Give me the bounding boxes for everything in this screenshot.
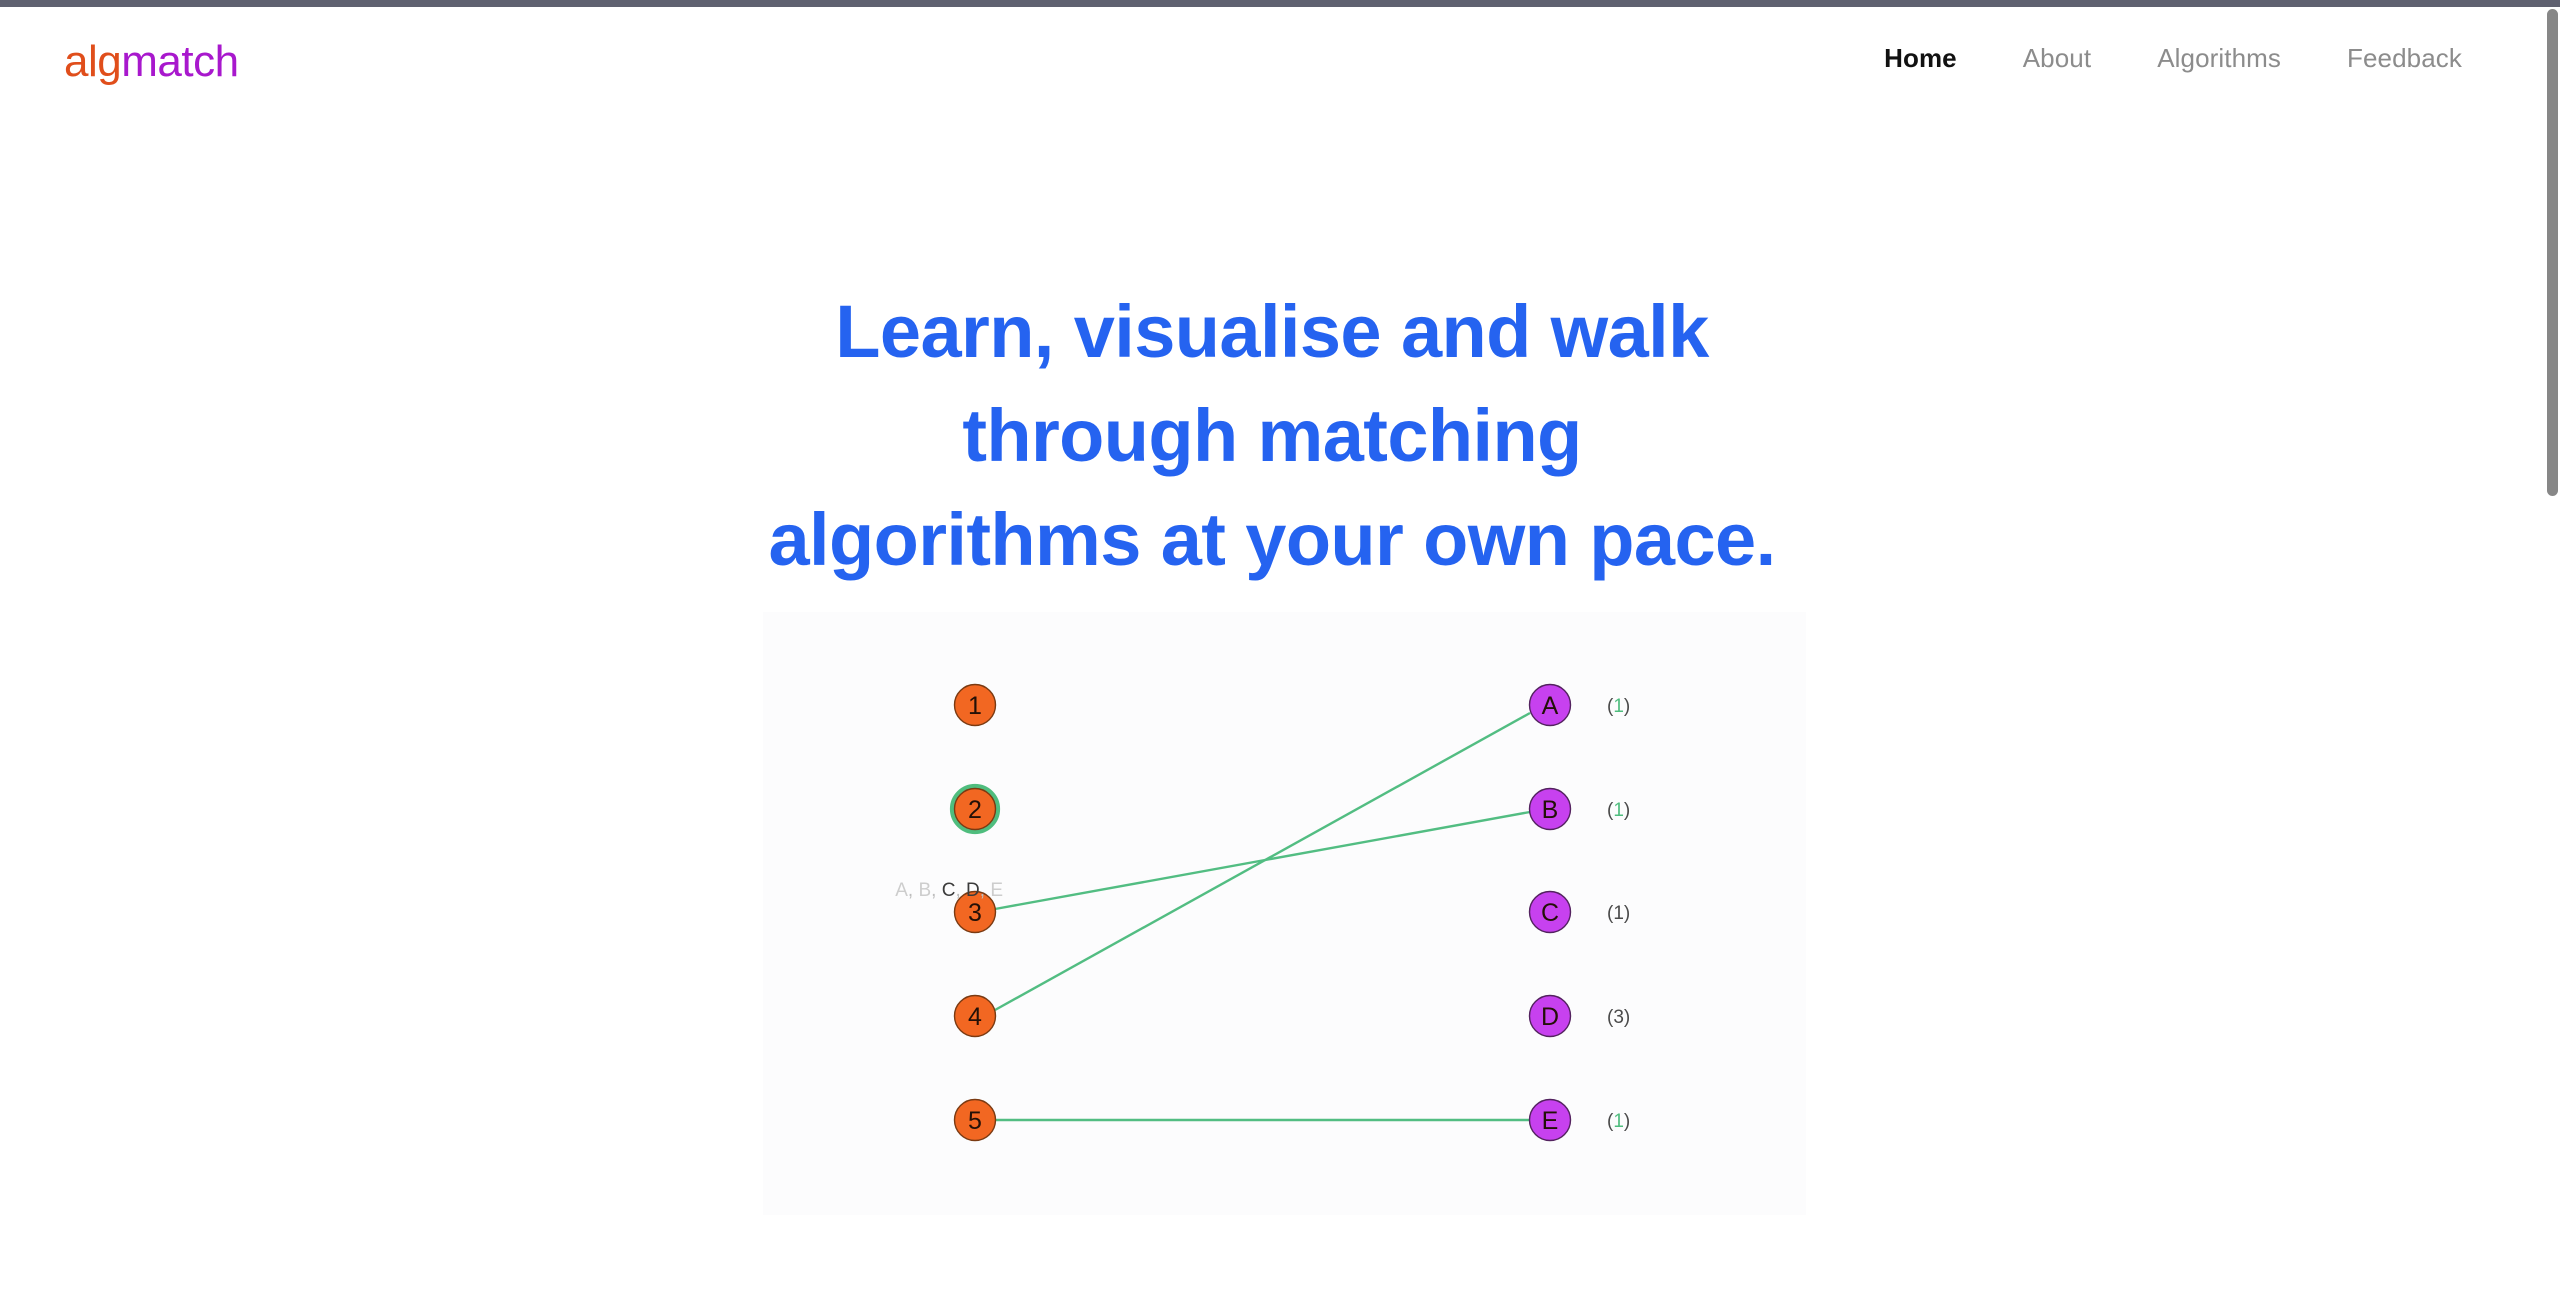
preference-item-C: C — [942, 880, 956, 901]
capacity-label-D: (3) — [1607, 1007, 1630, 1028]
node-circle[interactable] — [1530, 685, 1571, 726]
graph-node-2[interactable]: 2 — [952, 786, 998, 832]
capacity-label-B: (1) — [1607, 800, 1630, 821]
capacity-label-C: (1) — [1607, 903, 1630, 924]
graph-node-E[interactable]: E — [1530, 1100, 1571, 1141]
page-scrollbar-thumb[interactable] — [2547, 9, 2558, 496]
nav-link-home[interactable]: Home — [1884, 33, 1957, 84]
site-header: algmatch Home About Algorithms Feedback — [0, 7, 2544, 110]
brand-logo[interactable]: algmatch — [64, 34, 239, 84]
capacity-label-A: (1) — [1607, 696, 1630, 717]
preference-separator: , — [908, 880, 919, 901]
node-circle[interactable] — [1530, 789, 1571, 830]
page-title: Learn, visualise and walk through matchi… — [767, 280, 1777, 592]
graph-edges-layer — [995, 713, 1530, 1120]
node-circle[interactable] — [955, 685, 996, 726]
matching-graph-svg: 12345ABCDE (1)(1)(1)(3)(1) — [763, 612, 1806, 1215]
main-navigation: Home About Algorithms Feedback — [1884, 33, 2476, 84]
preference-item-D: D — [966, 880, 980, 901]
node-circle[interactable] — [1530, 892, 1571, 933]
brand-logo-alg: alg — [64, 37, 121, 86]
brand-logo-match: match — [121, 37, 238, 86]
graph-node-A[interactable]: A — [1530, 685, 1571, 726]
preference-separator: , — [955, 880, 966, 901]
node-circle[interactable] — [1530, 1100, 1571, 1141]
graph-node-1[interactable]: 1 — [955, 685, 996, 726]
graph-node-B[interactable]: B — [1530, 789, 1571, 830]
preference-item-E: E — [990, 880, 1003, 901]
nav-link-algorithms[interactable]: Algorithms — [2157, 33, 2281, 84]
graph-node-5[interactable]: 5 — [955, 1100, 996, 1141]
preference-item-B: B — [918, 880, 931, 901]
capacity-label-E: (1) — [1607, 1111, 1630, 1132]
graph-capacities-layer: (1)(1)(1)(3)(1) — [1607, 696, 1630, 1132]
graph-node-D[interactable]: D — [1530, 996, 1571, 1037]
hero-section: Learn, visualise and walk through matchi… — [0, 280, 2544, 592]
node-circle[interactable] — [955, 1100, 996, 1141]
browser-chrome-strip — [0, 0, 2560, 7]
node-circle[interactable] — [1530, 996, 1571, 1037]
graph-nodes-layer: 12345ABCDE — [952, 685, 1570, 1141]
graph-node-4[interactable]: 4 — [955, 996, 996, 1037]
preference-item-A: A — [895, 880, 908, 901]
preference-separator: , — [931, 880, 942, 901]
nav-link-feedback[interactable]: Feedback — [2347, 33, 2462, 84]
graph-edge-4-A[interactable] — [995, 713, 1530, 1010]
node-circle[interactable] — [955, 996, 996, 1037]
page-root: algmatch Home About Algorithms Feedback … — [0, 0, 2560, 1298]
node-circle[interactable] — [955, 789, 996, 830]
matching-graph-panel: 12345ABCDE (1)(1)(1)(3)(1) A, B, C, D, E — [763, 612, 1806, 1215]
graph-node-C[interactable]: C — [1530, 892, 1571, 933]
preference-list-node-2: A, B, C, D, E — [781, 880, 1003, 902]
page-scrollbar[interactable] — [2544, 7, 2560, 1298]
preference-separator: , — [980, 880, 991, 901]
nav-link-about[interactable]: About — [2023, 33, 2091, 84]
